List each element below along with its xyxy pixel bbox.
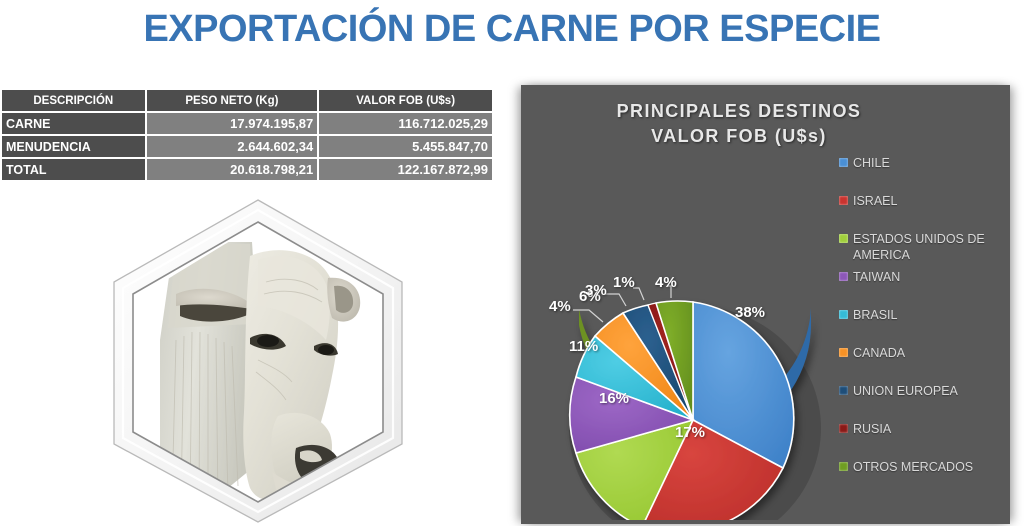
legend-item-taiwan[interactable]: TAIWAN <box>839 269 1007 285</box>
legend-label-estados-unidos: ESTADOS UNIDOS DE AMERICA <box>853 231 1007 263</box>
legend-label-israel: ISRAEL <box>853 193 897 209</box>
legend-swatch-canada-icon <box>839 348 848 357</box>
legend-swatch-rusia-icon <box>839 424 848 433</box>
export-summary-table: DESCRIPCIÓN PESO NETO (Kg) VALOR FOB (U$… <box>0 88 494 182</box>
legend-label-otros-mercados: OTROS MERCADOS <box>853 459 973 475</box>
chart-panel: PRINCIPALES DESTINOS VALOR FOB (U$s) <box>521 85 1010 524</box>
pie-label-rusia: 1% <box>613 274 635 291</box>
pie-label-taiwan: 11% <box>569 338 598 355</box>
cell-menudencia-peso-neto: 2.644.602,34 <box>147 136 318 157</box>
chart-legend: CHILE ISRAEL ESTADOS UNIDOS DE AMERICA T… <box>839 155 1007 475</box>
legend-label-brasil: BRASIL <box>853 307 897 323</box>
table-row: CARNE 17.974.195,87 116.712.025,29 <box>2 113 492 134</box>
row-label-menudencia: MENUDENCIA <box>2 136 145 157</box>
legend-item-otros-mercados[interactable]: OTROS MERCADOS <box>839 459 1007 475</box>
legend-item-brasil[interactable]: BRASIL <box>839 307 1007 323</box>
pie-chart[interactable]: 38% 17% 16% 11% 6% 4% 3% 1% 4% <box>543 190 843 520</box>
legend-item-chile[interactable]: CHILE <box>839 155 1007 171</box>
column-header-descripcion: DESCRIPCIÓN <box>2 90 145 111</box>
cow-photo-frame <box>108 196 408 526</box>
legend-label-chile: CHILE <box>853 155 890 171</box>
table-header-row: DESCRIPCIÓN PESO NETO (Kg) VALOR FOB (U$… <box>2 90 492 111</box>
cell-total-peso-neto: 20.618.798,21 <box>147 159 318 180</box>
cell-carne-peso-neto: 17.974.195,87 <box>147 113 318 134</box>
chart-title: PRINCIPALES DESTINOS VALOR FOB (U$s) <box>539 99 939 149</box>
pie-label-union-europea: 3% <box>585 282 607 299</box>
cell-menudencia-valor-fob: 5.455.847,70 <box>319 136 492 157</box>
column-header-valor-fob: VALOR FOB (U$s) <box>319 90 492 111</box>
pie-label-chile: 38% <box>735 304 765 321</box>
legend-item-israel[interactable]: ISRAEL <box>839 193 1007 209</box>
pie-label-estados-unidos: 16% <box>599 390 629 407</box>
legend-item-estados-unidos[interactable]: ESTADOS UNIDOS DE AMERICA <box>839 231 1007 263</box>
legend-swatch-brasil-icon <box>839 310 848 319</box>
row-label-carne: CARNE <box>2 113 145 134</box>
table-row: TOTAL 20.618.798,21 122.167.872,99 <box>2 159 492 180</box>
legend-swatch-estados-unidos-icon <box>839 234 848 243</box>
legend-item-canada[interactable]: CANADA <box>839 345 1007 361</box>
column-header-peso-neto: PESO NETO (Kg) <box>147 90 318 111</box>
legend-swatch-otros-mercados-icon <box>839 462 848 471</box>
legend-swatch-chile-icon <box>839 158 848 167</box>
row-label-total: TOTAL <box>2 159 145 180</box>
legend-item-rusia[interactable]: RUSIA <box>839 421 1007 437</box>
legend-label-rusia: RUSIA <box>853 421 891 437</box>
legend-swatch-union-europea-icon <box>839 386 848 395</box>
page-title: EXPORTACIÓN DE CARNE POR ESPECIE <box>0 8 1024 51</box>
legend-swatch-israel-icon <box>839 196 848 205</box>
cell-carne-valor-fob: 116.712.025,29 <box>319 113 492 134</box>
legend-swatch-taiwan-icon <box>839 272 848 281</box>
legend-label-taiwan: TAIWAN <box>853 269 900 285</box>
legend-label-union-europea: UNION EUROPEA <box>853 383 958 399</box>
table-row: MENUDENCIA 2.644.602,34 5.455.847,70 <box>2 136 492 157</box>
pie-label-israel: 17% <box>675 424 705 441</box>
pie-label-otros-mercados: 4% <box>655 274 677 291</box>
legend-item-union-europea[interactable]: UNION EUROPEA <box>839 383 1007 399</box>
legend-label-canada: CANADA <box>853 345 905 361</box>
hexagon-frame <box>108 196 408 526</box>
pie-label-canada: 4% <box>549 298 571 315</box>
cell-total-valor-fob: 122.167.872,99 <box>319 159 492 180</box>
